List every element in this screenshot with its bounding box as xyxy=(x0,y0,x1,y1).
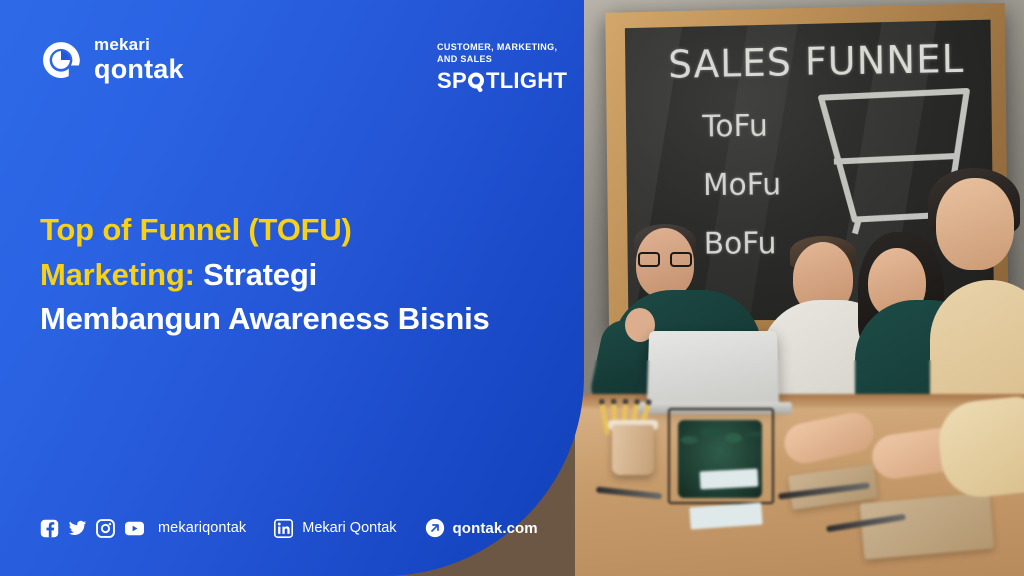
linkedin-group[interactable]: Mekari Qontak xyxy=(274,519,396,538)
headline-highlight-line-1: Top of Funnel (TOFU) xyxy=(40,212,352,247)
brand-logo-wordmark: mekari qontak xyxy=(94,36,184,83)
headline-highlight-line-2: Marketing: xyxy=(40,257,195,292)
headline-rest-line-3: Membangun Awareness Bisnis xyxy=(40,301,490,336)
chalkboard-stage-mofu: MoFu xyxy=(703,167,781,203)
youtube-icon[interactable] xyxy=(124,519,145,538)
social-icon-group xyxy=(40,519,145,538)
chalkboard-stage-tofu: ToFu xyxy=(702,109,768,145)
spotlight-kicker-line-1: CUSTOMER, MARKETING, xyxy=(437,42,567,54)
social-handle[interactable]: mekariqontak xyxy=(158,520,246,536)
instagram-icon[interactable] xyxy=(96,519,115,538)
spotlight-kicker-line-2: AND SALES xyxy=(437,54,567,66)
footer-social-bar: mekariqontak Mekari Qontak qontak.com xyxy=(40,518,538,538)
brand-name-qontak: qontak xyxy=(94,56,184,83)
website-group[interactable]: qontak.com xyxy=(425,518,538,538)
spotlight-lockup: CUSTOMER, MARKETING, AND SALES SP TLIGHT xyxy=(437,42,567,94)
headline-rest-line-2: Strategi xyxy=(195,257,317,292)
spotlight-o-icon xyxy=(467,71,486,92)
chalkboard-stage-bofu: BoFu xyxy=(704,226,777,261)
arrow-circle-icon[interactable] xyxy=(425,518,445,538)
spotlight-wordmark: SP TLIGHT xyxy=(437,68,567,94)
person-1-glasses-icon xyxy=(638,252,692,267)
linkedin-icon[interactable] xyxy=(274,519,293,538)
blue-panel: mekari qontak CUSTOMER, MARKETING, AND S… xyxy=(0,0,584,576)
foreground-blur xyxy=(575,360,1024,576)
banner: SALES FUNNEL ToFu MoFu BoFu xyxy=(0,0,1024,576)
website-label[interactable]: qontak.com xyxy=(453,520,538,537)
mekari-qontak-logo-mark xyxy=(40,39,82,81)
linkedin-label[interactable]: Mekari Qontak xyxy=(302,520,396,536)
brand-logo[interactable]: mekari qontak xyxy=(40,36,184,83)
spotlight-word-before: SP xyxy=(437,68,467,94)
chalkboard-title: SALES FUNNEL xyxy=(668,36,965,86)
spotlight-word-after: TLIGHT xyxy=(486,68,567,94)
facebook-icon[interactable] xyxy=(40,519,59,538)
page-title: Top of Funnel (TOFU) Marketing: Strategi… xyxy=(40,208,570,342)
person-4-head xyxy=(936,178,1014,270)
brand-name-mekari: mekari xyxy=(94,36,184,53)
twitter-icon[interactable] xyxy=(68,519,87,538)
